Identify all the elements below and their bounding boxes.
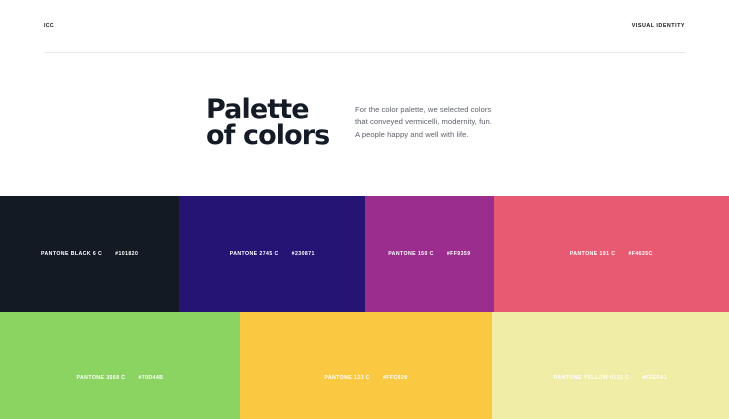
page-title: Palette of colors: [206, 97, 342, 149]
swatch-caption: PANTONE 2745 C#230871: [230, 251, 315, 257]
swatch-hex-code: #FF9359: [447, 251, 471, 257]
swatch-hex-code: #F4635C: [628, 251, 652, 257]
swatch-caption: PANTONE 150 C#FF9359: [388, 251, 470, 257]
swatch-caption: PANTONE 3568 C#70D44B: [77, 375, 164, 381]
swatch-caption: PANTONE YELLOW 0131 C#F3EFA1: [554, 375, 667, 381]
brand-mark: ICC: [44, 23, 54, 29]
swatch-caption: PANTONE 191 C#F4635C: [570, 251, 653, 257]
color-palette: PANTONE BLACK 6 C#101820PANTONE 2745 C#2…: [0, 196, 729, 419]
page-title-line-2: of colors: [206, 123, 342, 149]
swatch-pantone-name: PANTONE 2745 C: [230, 251, 279, 257]
swatch-hex-code: #FFC629: [383, 375, 408, 381]
intro-paragraph-line-1: For the color palette, we selected color…: [355, 104, 537, 116]
swatch-pantone-name: PANTONE YELLOW 0131 C: [554, 375, 629, 381]
swatch-pantone-name: PANTONE 191 C: [570, 251, 616, 257]
color-swatch[interactable]: PANTONE 2745 C#230871: [179, 196, 365, 312]
swatch-hex-code: #230871: [292, 251, 315, 257]
swatch-hex-code: #101820: [115, 251, 138, 257]
swatch-hex-code: #F3EFA1: [642, 375, 667, 381]
color-swatch[interactable]: PANTONE 150 C#FF9359: [365, 196, 493, 312]
swatch-pantone-name: PANTONE 3568 C: [77, 375, 126, 381]
color-swatch[interactable]: PANTONE 191 C#F4635C: [494, 196, 729, 312]
intro-paragraph-line-3: A people happy and well with life.: [355, 129, 537, 141]
swatch-hex-code: #70D44B: [138, 375, 163, 381]
section-label: VISUAL IDENTITY: [632, 23, 685, 29]
color-swatch[interactable]: PANTONE 123 C#FFC629: [240, 312, 492, 419]
color-swatch[interactable]: PANTONE 3568 C#70D44B: [0, 312, 240, 419]
swatch-row-bottom: PANTONE 3568 C#70D44BPANTONE 123 C#FFC62…: [0, 312, 729, 419]
intro-paragraph: For the color palette, we selected color…: [355, 97, 537, 141]
page-header: ICC VISUAL IDENTITY: [0, 0, 729, 52]
swatch-caption: PANTONE BLACK 6 C#101820: [41, 251, 138, 257]
color-swatch[interactable]: PANTONE BLACK 6 C#101820: [0, 196, 179, 312]
intro-paragraph-line-2: that conveyed vermicelli, modernity, fun…: [355, 116, 537, 128]
color-swatch[interactable]: PANTONE YELLOW 0131 C#F3EFA1: [492, 312, 729, 419]
swatch-row-top: PANTONE BLACK 6 C#101820PANTONE 2745 C#2…: [0, 196, 729, 312]
swatch-pantone-name: PANTONE 150 C: [388, 251, 434, 257]
intro-block: Palette of colors For the color palette,…: [206, 97, 537, 149]
header-divider: [44, 52, 685, 53]
swatch-pantone-name: PANTONE 123 C: [324, 375, 370, 381]
swatch-pantone-name: PANTONE BLACK 6 C: [41, 251, 102, 257]
swatch-caption: PANTONE 123 C#FFC629: [324, 375, 407, 381]
